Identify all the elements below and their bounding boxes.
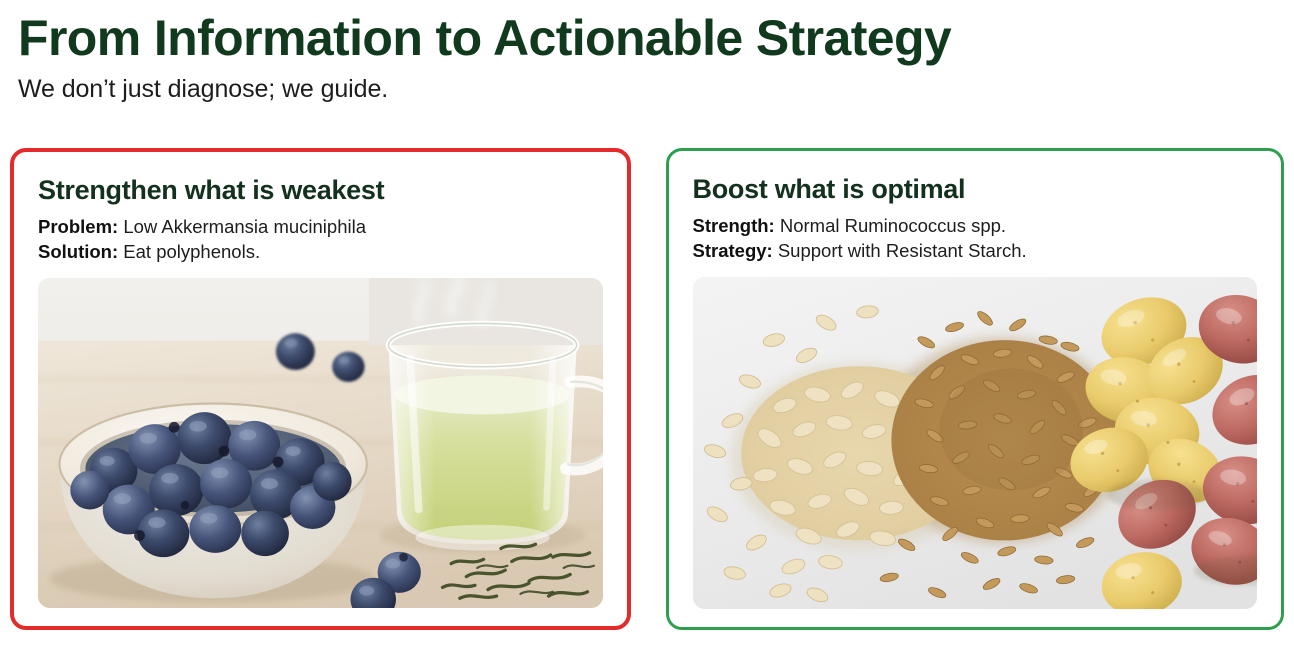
card-heading-boost: Boost what is optimal	[693, 173, 1258, 205]
card-row-label-strategy: Strategy:	[693, 240, 773, 261]
header: From Information to Actionable Strategy …	[18, 8, 1278, 104]
card-row-problem: Problem: Low Akkermansia muciniphila	[38, 214, 603, 239]
page-title: From Information to Actionable Strategy	[18, 8, 1278, 68]
card-row-label-problem: Problem:	[38, 216, 118, 237]
card-row-strength: Strength: Normal Ruminococcus spp.	[693, 213, 1258, 238]
card-strengthen-what-is-weakest[interactable]: Strengthen what is weakest Problem: Low …	[10, 148, 631, 630]
card-row-strategy: Strategy: Support with Resistant Starch.	[693, 238, 1258, 263]
card-row-label-solution: Solution:	[38, 241, 118, 262]
card-boost-what-is-optimal[interactable]: Boost what is optimal Strength: Normal R…	[666, 148, 1285, 630]
card-row-value-problem: Low Akkermansia muciniphila	[123, 216, 366, 237]
card-row-value-solution: Eat polyphenols.	[123, 241, 260, 262]
cards-row: Strengthen what is weakest Problem: Low …	[10, 148, 1284, 630]
card-row-value-strategy: Support with Resistant Starch.	[778, 240, 1027, 261]
page-subtitle: We don’t just diagnose; we guide.	[18, 74, 1278, 104]
oats-grains-and-potatoes-photo: Rolled oats and whole grains spread besi…	[693, 277, 1258, 609]
blueberries-and-green-tea-photo: Bowl of blueberries beside a glass cup o…	[38, 278, 603, 608]
card-row-label-strength: Strength:	[693, 215, 775, 236]
slide-root: From Information to Actionable Strategy …	[0, 0, 1294, 646]
card-heading-strengthen: Strengthen what is weakest	[38, 174, 603, 206]
card-row-value-strength: Normal Ruminococcus spp.	[780, 215, 1006, 236]
card-row-solution: Solution: Eat polyphenols.	[38, 239, 603, 264]
